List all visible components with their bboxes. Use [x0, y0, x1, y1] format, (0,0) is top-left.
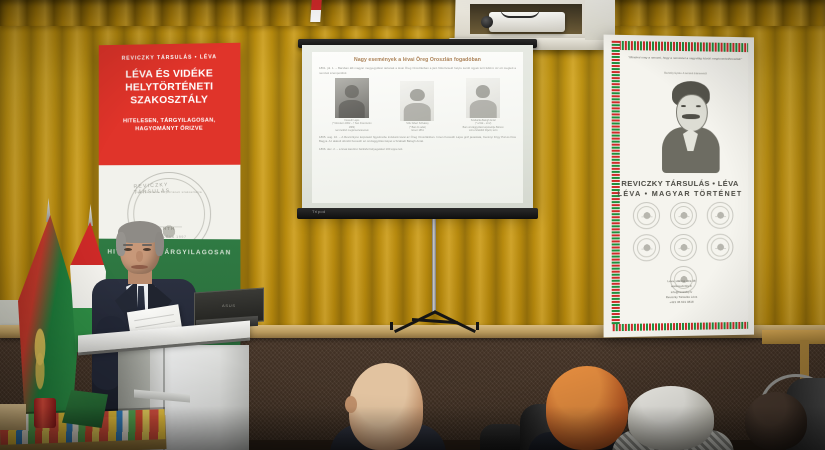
figure-note: Bars országgyűlési képviselője Bárson vo…	[461, 126, 505, 133]
banner-runic-line: LÉVA • MAGYAR TÖRTÉNET	[614, 189, 746, 198]
audience-head-red-hair-woman	[546, 366, 628, 450]
speaker-brow-left	[123, 244, 133, 246]
seal-icon	[707, 202, 734, 229]
banner-headline-3: SZAKOSZTÁLY	[99, 94, 241, 108]
screen-brand-label: Tripod	[312, 209, 326, 214]
speaker-mouth	[131, 265, 148, 269]
screen-surface: Nagy események a lévai Öreg Oroszlán fog…	[302, 45, 533, 210]
banner-contact-block: Léva, Hlavná utca 38 www.reviczky.lv inf…	[618, 278, 744, 306]
figure-note: Ismert 1861	[395, 129, 439, 132]
seal-icon	[670, 202, 697, 229]
seal-icon	[633, 202, 660, 229]
speaker-brow-right	[142, 244, 152, 246]
portrait-body-shape	[339, 100, 366, 118]
banner-tagline-2: HAGYOMÁNYT ŐRIZVE	[99, 124, 241, 134]
slide-paragraph-2: 1865. aug. 10. – A Reviczkyné képviselő …	[319, 135, 516, 144]
slide-paragraph-1: 1861. júl. 1. – Barsban állt magyar megy…	[319, 66, 516, 75]
slide-figure: Szabarika Balogh Antal (* a föld – ott 2…	[461, 78, 505, 133]
seal-icon	[707, 234, 734, 261]
seal-icon	[633, 234, 660, 261]
speaker-eye-right	[143, 248, 151, 251]
flag-coat-of-arms-icon	[26, 315, 54, 395]
side-table	[762, 330, 825, 344]
portrait-photo-icon	[466, 78, 500, 118]
slide-paragraph-3: 1866. dec. 2. – a lévai kaszinó bánfalvi…	[319, 147, 516, 152]
portrait-body-shape	[470, 100, 497, 118]
projector-lens-icon	[481, 16, 493, 28]
banner-red-section: REVICZKY TÁRSULÁS • LÉVA LÉVA ÉS VIDÉKE …	[99, 43, 241, 166]
cardboard-box	[0, 404, 26, 430]
audience-head-bald-man	[349, 363, 423, 450]
laptop-brand-label: ASUS	[222, 303, 236, 308]
projector-cable	[500, 8, 540, 18]
portrait-eye-right	[696, 105, 701, 107]
curtain-valance	[0, 0, 825, 26]
screen-bottom-bar	[297, 208, 538, 219]
portrait-photo-icon	[335, 78, 369, 118]
reviczky-portrait-icon	[656, 81, 726, 173]
portrait-head-shape	[345, 85, 359, 98]
screen-tripod-pole	[432, 205, 436, 313]
banner-org-line: REVICZKY TÁRSULÁS • LÉVA	[99, 54, 241, 62]
figure-dates: (* Monokon 1802 – † San Franciscón 1889)	[330, 122, 374, 129]
tripod-foot-left	[390, 322, 393, 330]
audience-head-dark-hair	[745, 392, 807, 450]
slide-title: Nagy események a lévai Öreg Oroszlán fog…	[319, 57, 516, 63]
portrait-body-shape	[404, 103, 431, 121]
portrait-head-shape	[410, 89, 424, 102]
speaker-nose	[136, 251, 143, 262]
audience-head-gray-hair	[628, 386, 714, 450]
red-cylinder-object	[34, 398, 56, 428]
figure-note: nemzetközi megismertetésének	[330, 129, 374, 132]
portrait-head-shape	[476, 85, 490, 98]
audience-ear	[345, 396, 357, 413]
banner-name-line: REVICZKY TÁRSULÁS • LÉVA	[614, 179, 746, 188]
portrait-face	[676, 94, 708, 132]
tricolour-border-bottom	[613, 322, 748, 331]
photograph-scene: Nagy események a lévai Öreg Oroszlán fog…	[0, 0, 825, 450]
portrait-eye-left	[681, 105, 686, 107]
speaker-hair-right	[155, 232, 164, 256]
projection-screen: Nagy események a lévai Öreg Oroszlán fog…	[302, 45, 533, 210]
small-flag-icon	[310, 0, 322, 22]
speaker-eye-left	[124, 248, 132, 251]
portrait-moustache	[682, 114, 700, 119]
tripod-foot-right	[476, 322, 479, 330]
slide-figure-row: Kossuth Lajos (* Monokon 1802 – † San Fr…	[319, 78, 516, 133]
slide-figure: Szilv Albert Szilvássy (* Bars 11 adat) …	[395, 81, 439, 132]
presentation-slide: Nagy események a lévai Öreg Oroszlán fog…	[312, 52, 523, 203]
seal-icon	[670, 234, 697, 261]
portrait-photo-icon	[400, 81, 434, 121]
slide-figure: Kossuth Lajos (* Monokon 1802 – † San Fr…	[330, 78, 374, 133]
seal-sub-text: Léva és vidéke helytörténeti szakosztály…	[136, 190, 201, 194]
right-rollup-banner: "Mindent meg a nemzet, hogy a nemzetet a…	[604, 35, 754, 338]
